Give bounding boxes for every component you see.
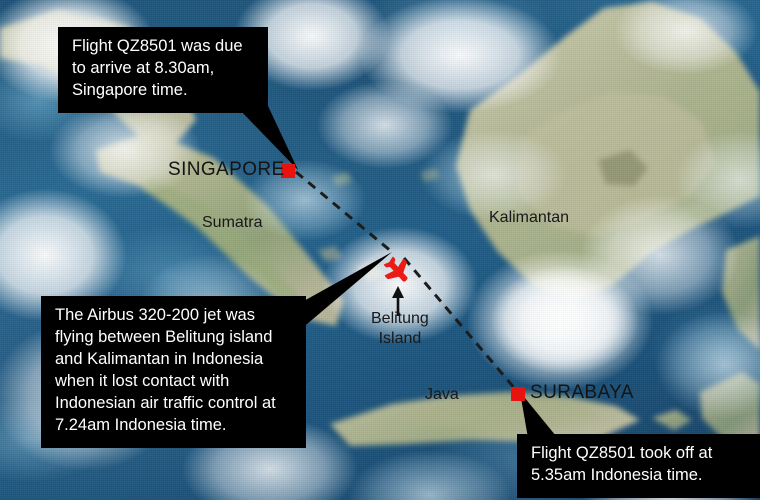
infographic-map: SINGAPORE SURABAYA Sumatra Kalimantan Ja… <box>0 0 760 500</box>
region-label-java: Java <box>425 386 459 404</box>
callout-departure-text: Flight QZ8501 took off at 5.35am Indones… <box>531 443 746 487</box>
region-label-belitung: Belitung Island <box>371 309 429 348</box>
region-label-belitung-line2: Island <box>371 329 429 349</box>
surabaya-marker <box>511 387 525 401</box>
region-label-sumatra: Sumatra <box>202 214 262 232</box>
callout-lost-contact: The Airbus 320-200 jet was flying betwee… <box>41 296 306 448</box>
flight-path-singapore-segment <box>296 172 392 252</box>
city-label-singapore: SINGAPORE <box>168 159 285 181</box>
callout-lost-contact-text: The Airbus 320-200 jet was flying betwee… <box>55 305 292 437</box>
callout-departure: Flight QZ8501 took off at 5.35am Indones… <box>517 434 760 498</box>
callout-arrival-text: Flight QZ8501 was due to arrive at 8.30a… <box>72 36 254 102</box>
city-label-surabaya: SURABAYA <box>530 382 634 404</box>
region-label-kalimantan: Kalimantan <box>489 209 569 227</box>
callout-arrival: Flight QZ8501 was due to arrive at 8.30a… <box>58 27 268 113</box>
region-label-belitung-line1: Belitung <box>371 309 429 329</box>
